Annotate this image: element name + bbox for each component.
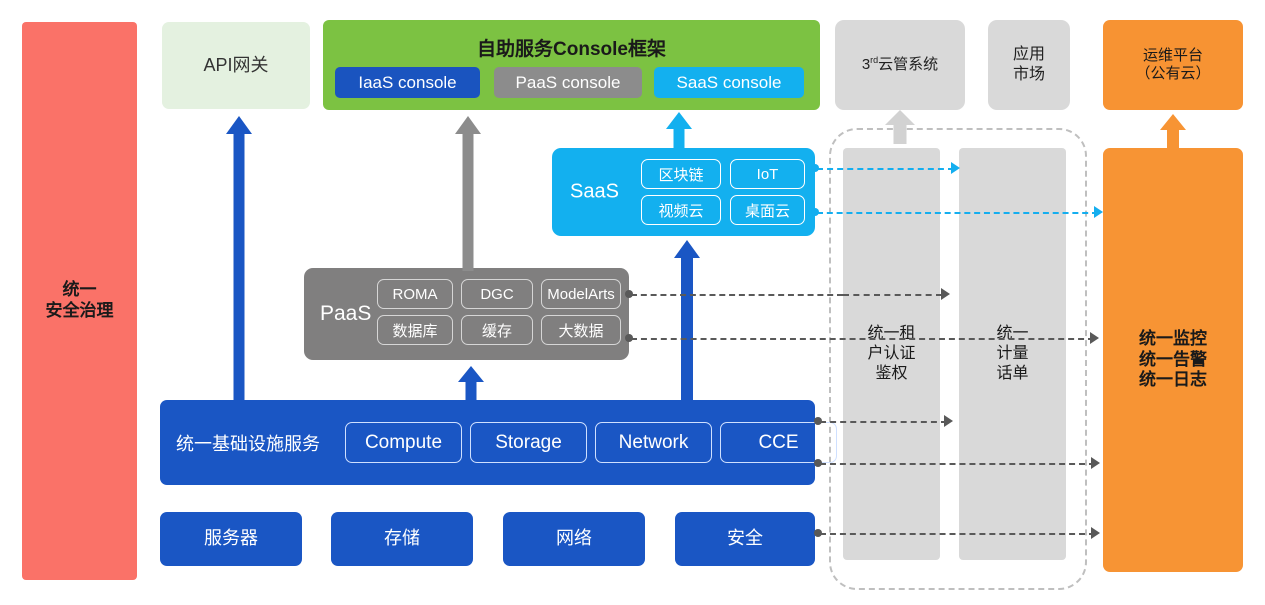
dash-paas-to-auth bbox=[631, 294, 843, 296]
hardware-server-box: 服务器 bbox=[160, 512, 302, 566]
paas-service-database[interactable]: 数据库 bbox=[377, 315, 453, 345]
unified-ops-panel: 统一监控 统一告警 统一日志 bbox=[1103, 148, 1243, 572]
saas-console-chip[interactable]: SaaS console bbox=[654, 67, 804, 98]
infra-service-network[interactable]: Network bbox=[595, 422, 712, 463]
saas-layer-label: SaaS bbox=[570, 181, 619, 204]
paas-service-cache[interactable]: 缓存 bbox=[461, 315, 533, 345]
paas-service-bigdata[interactable]: 大数据 bbox=[541, 315, 621, 345]
dash-arrowhead-infra-1 bbox=[944, 415, 953, 427]
dash-paas-to-ops bbox=[631, 338, 1094, 340]
dash-arrowhead-paas-2 bbox=[1090, 332, 1099, 344]
saas-layer: SaaS 区块链 IoT 视频云 桌面云 bbox=[552, 148, 815, 236]
third-party-label: 3rd云管系统 bbox=[862, 55, 938, 74]
third-party-cloud-mgmt-box: 3rd云管系统 bbox=[835, 20, 965, 110]
saas-service-video-cloud[interactable]: 视频云 bbox=[641, 195, 721, 225]
saas-service-blockchain[interactable]: 区块链 bbox=[641, 159, 721, 189]
paas-service-modelarts[interactable]: ModelArts bbox=[541, 279, 621, 309]
dash-arrowhead-paas-1 bbox=[941, 288, 950, 300]
hardware-storage-box: 存储 bbox=[331, 512, 473, 566]
dash-infra-to-ops bbox=[820, 463, 1095, 465]
paas-service-roma[interactable]: ROMA bbox=[377, 279, 453, 309]
infra-service-storage[interactable]: Storage bbox=[470, 422, 587, 463]
architecture-diagram: 统一 安全治理 API网关 自助服务Console框架 IaaS console… bbox=[0, 0, 1265, 605]
app-market-box: 应用 市场 bbox=[988, 20, 1070, 110]
dash-saas-to-ops bbox=[817, 212, 1098, 214]
dash-hardware-to-ops bbox=[820, 533, 1095, 535]
hardware-security-box: 安全 bbox=[675, 512, 815, 566]
self-service-console-frame: 自助服务Console框架 IaaS console PaaS console … bbox=[323, 20, 820, 110]
shared-service-column-auth: 统一租 户认证 鉴权 bbox=[843, 148, 940, 560]
saas-service-desktop-cloud[interactable]: 桌面云 bbox=[730, 195, 805, 225]
dash-arrowhead-hardware bbox=[1091, 527, 1100, 539]
paas-console-chip[interactable]: PaaS console bbox=[494, 67, 642, 98]
infra-service-cce[interactable]: CCE bbox=[720, 422, 837, 463]
arrow-paas-to-console bbox=[453, 116, 483, 271]
arrow-infra-to-paas bbox=[456, 366, 486, 403]
infra-service-compute[interactable]: Compute bbox=[345, 422, 462, 463]
hardware-network-box: 网络 bbox=[503, 512, 645, 566]
dash-arrowhead-saas-1 bbox=[951, 162, 960, 174]
arrow-ops-panel-to-ops-platform bbox=[1158, 114, 1188, 150]
shared-service-column-metering: 统一 计量 话单 bbox=[959, 148, 1066, 560]
paas-layer: PaaS ROMA DGC ModelArts 数据库 缓存 大数据 bbox=[304, 268, 629, 360]
unified-infrastructure-layer: 统一基础设施服务 Compute Storage Network CCE bbox=[160, 400, 815, 485]
arrow-shared-to-third-party bbox=[885, 110, 915, 144]
paas-layer-label: PaaS bbox=[320, 302, 371, 326]
iaas-console-chip[interactable]: IaaS console bbox=[335, 67, 480, 98]
arrow-saas-to-console bbox=[664, 112, 694, 152]
arrow-infra-to-api-gateway bbox=[224, 116, 254, 401]
dash-saas-to-metering bbox=[817, 168, 954, 170]
dash-auth-inner-1 bbox=[843, 294, 942, 296]
ops-platform-public-cloud-box: 运维平台 （公有云） bbox=[1103, 20, 1243, 110]
arrow-infra-to-saas bbox=[672, 240, 702, 402]
saas-service-iot[interactable]: IoT bbox=[730, 159, 805, 189]
api-gateway-box: API网关 bbox=[162, 22, 310, 109]
dash-arrowhead-saas-2 bbox=[1094, 206, 1103, 218]
paas-service-dgc[interactable]: DGC bbox=[461, 279, 533, 309]
dash-infra-to-metering bbox=[820, 421, 947, 423]
infra-layer-label: 统一基础设施服务 bbox=[176, 430, 320, 456]
security-governance-panel: 统一 安全治理 bbox=[22, 22, 137, 580]
dash-arrowhead-infra-2 bbox=[1091, 457, 1100, 469]
console-frame-title: 自助服务Console框架 bbox=[323, 34, 820, 61]
